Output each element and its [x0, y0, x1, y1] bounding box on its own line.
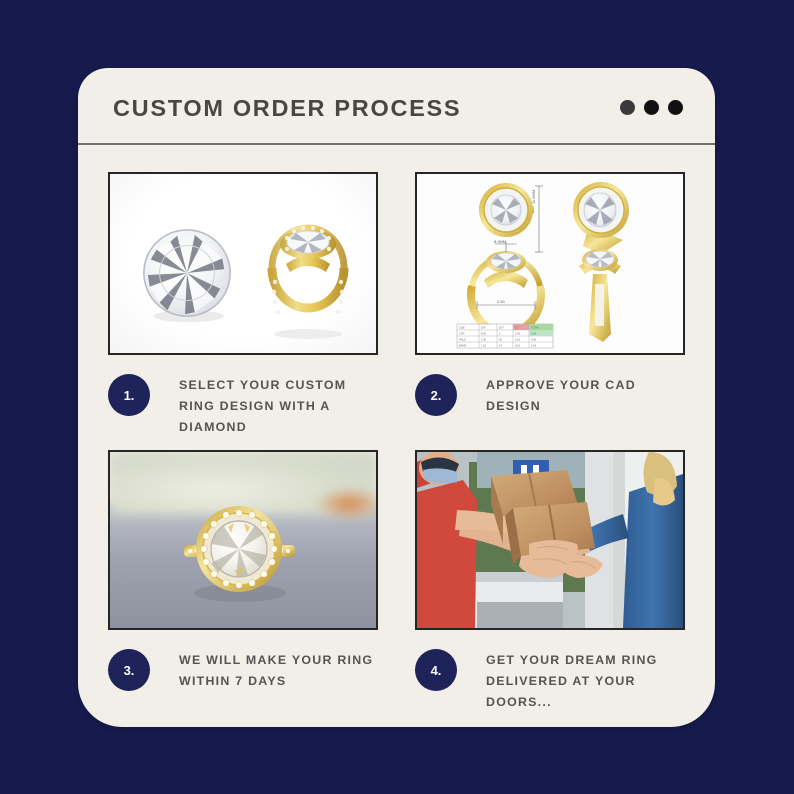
- step-card-1[interactable]: 1. SELECT YOUR CUSTOM RING DESIGN WITH A…: [108, 172, 378, 450]
- svg-text:1.30: 1.30: [481, 338, 487, 342]
- step-2-image-panel: 11.5MM: [415, 172, 685, 355]
- delivery-scene-icon: [417, 452, 683, 628]
- gold-halo-ring-icon: [178, 497, 300, 607]
- step-card-4[interactable]: 4. GET YOUR DREAM RING DELIVERED AT YOUR…: [415, 450, 685, 725]
- svg-text:QTY: QTY: [499, 326, 505, 330]
- step-2-caption: APPROVE YOUR CAD DESIGN: [486, 372, 685, 417]
- svg-text:2.00: 2.00: [531, 332, 537, 336]
- svg-text:1.10: 1.10: [481, 344, 487, 348]
- step-card-2[interactable]: 11.5MM: [415, 172, 685, 450]
- svg-text:DIA: DIA: [481, 326, 486, 330]
- step-4-caption: GET YOUR DREAM RING DELIVERED AT YOUR DO…: [486, 647, 685, 713]
- step-3-number-badge: 3.: [108, 649, 150, 691]
- svg-text:8.0MM: 8.0MM: [494, 239, 506, 244]
- step-3-caption: WE WILL MAKE YOUR RING WITHIN 7 DAYS: [179, 647, 378, 692]
- step-3-caption-row: 3. WE WILL MAKE YOUR RING WITHIN 7 DAYS: [108, 647, 378, 725]
- svg-text:0.01: 0.01: [515, 344, 521, 348]
- steps-row-2: 3. WE WILL MAKE YOUR RING WITHIN 7 DAYS: [108, 450, 685, 725]
- process-card: CUSTOM ORDER PROCESS: [78, 68, 715, 727]
- step-1-image-panel: [108, 172, 378, 355]
- svg-text:CTR: CTR: [459, 332, 464, 336]
- step-4-image-panel: [415, 450, 685, 630]
- cad-drawing-icon: 11.5MM: [417, 174, 683, 353]
- background-warm-light: [314, 487, 378, 521]
- step-4-caption-row: 4. GET YOUR DREAM RING DELIVERED AT YOUR…: [415, 647, 685, 725]
- svg-text:CT: CT: [515, 326, 519, 330]
- gold-ring-side-view-icon: [256, 206, 360, 341]
- svg-text:0.18: 0.18: [531, 344, 537, 348]
- steps-row-1: 1. SELECT YOUR CUSTOM RING DESIGN WITH A…: [108, 172, 685, 450]
- card-header: CUSTOM ORDER PROCESS: [78, 68, 715, 144]
- step-1-number-badge: 1.: [108, 374, 150, 416]
- svg-text:BAND: BAND: [459, 344, 466, 348]
- step-2-number-badge: 2.: [415, 374, 457, 416]
- round-diamond-icon: [138, 226, 236, 324]
- window-controls: [620, 100, 683, 115]
- svg-text:8.00: 8.00: [481, 332, 487, 336]
- step-1-caption-row: 1. SELECT YOUR CUSTOM RING DESIGN WITH A…: [108, 372, 378, 450]
- svg-text:SIZE: SIZE: [459, 326, 465, 330]
- header-divider: [78, 143, 715, 145]
- window-dot-icon-2[interactable]: [644, 100, 659, 115]
- svg-text:11.5MM: 11.5MM: [531, 190, 536, 204]
- svg-text:0.36: 0.36: [531, 338, 537, 342]
- step-1-caption: SELECT YOUR CUSTOM RING DESIGN WITH A DI…: [179, 372, 378, 438]
- svg-text:0.01: 0.01: [515, 338, 521, 342]
- window-dot-muted-icon[interactable]: [620, 100, 635, 115]
- step-4-number-badge: 4.: [415, 649, 457, 691]
- page-root: CUSTOM ORDER PROCESS: [0, 0, 794, 794]
- steps-grid: 1. SELECT YOUR CUSTOM RING DESIGN WITH A…: [108, 172, 685, 725]
- page-title: CUSTOM ORDER PROCESS: [113, 95, 461, 122]
- svg-text:2.00: 2.00: [515, 332, 521, 336]
- step-3-image-panel: [108, 450, 378, 630]
- svg-text:TOTAL: TOTAL: [531, 326, 540, 330]
- svg-text:HALO: HALO: [459, 338, 466, 342]
- window-dot-icon-3[interactable]: [668, 100, 683, 115]
- step-card-3[interactable]: 3. WE WILL MAKE YOUR RING WITHIN 7 DAYS: [108, 450, 378, 725]
- svg-text:2.60: 2.60: [497, 299, 506, 304]
- step-2-caption-row: 2. APPROVE YOUR CAD DESIGN: [415, 372, 685, 450]
